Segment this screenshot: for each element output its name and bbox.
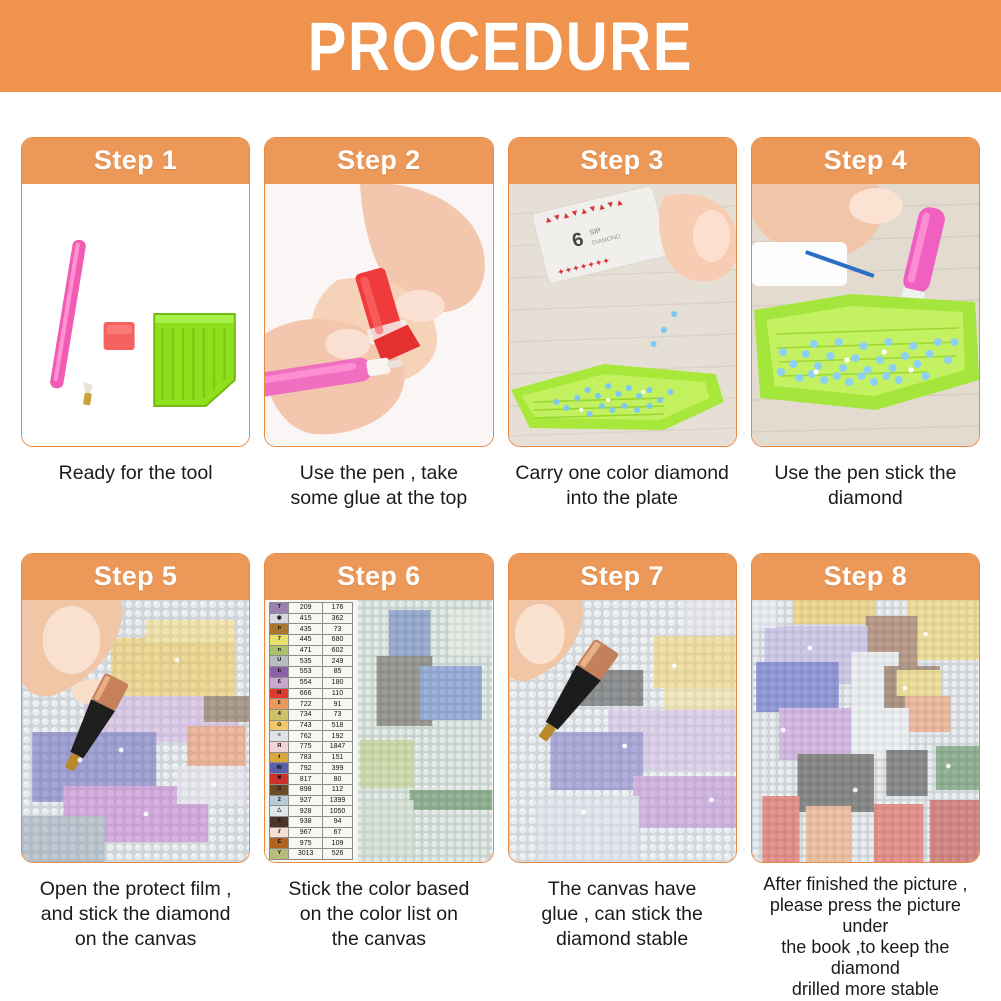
step-header-5: Step 5 xyxy=(21,553,250,600)
color-swatch: △ xyxy=(269,806,289,816)
color-swatch: ✖ xyxy=(269,774,289,784)
step-photo-7 xyxy=(509,600,736,862)
color-code: 975 xyxy=(289,838,323,848)
step-header-4: Step 4 xyxy=(751,137,980,184)
color-list-row: ≡762192 xyxy=(269,731,353,742)
color-code: 743 xyxy=(289,721,323,731)
color-count: 680 xyxy=(323,635,353,645)
color-count: 526 xyxy=(323,849,353,859)
color-list-row: 593894 xyxy=(269,817,353,828)
step-cell-1: Step 1 xyxy=(21,137,250,511)
step-header-label: Step 7 xyxy=(580,561,663,592)
color-swatch: N xyxy=(269,689,289,699)
color-list-table: T209176◉415362ɒ435737445680п471602U53524… xyxy=(265,600,356,862)
step-card-8[interactable]: Step 8 xyxy=(751,553,980,863)
color-count: 67 xyxy=(323,828,353,838)
page-title: PROCEDURE xyxy=(308,12,693,81)
color-swatch: Y xyxy=(269,849,289,859)
color-swatch: 4 xyxy=(269,710,289,720)
color-list-row: ⫽96767 xyxy=(269,828,353,839)
caption-line: Carry one color diamond xyxy=(510,461,735,486)
step-photo-3: ▲▼▲▼▲▼▲▼▲ ✦✦✦✦✦✦✦ 6 SIP DIAMOND xyxy=(509,184,736,446)
finished-painting-illustration xyxy=(752,600,979,862)
step-header-label: Step 6 xyxy=(337,561,420,592)
step-card-1[interactable]: Step 1 xyxy=(21,137,250,447)
step-caption-6: Stick the color based on the color list … xyxy=(264,877,493,952)
color-count: 1050 xyxy=(323,806,353,816)
page-banner: PROCEDURE xyxy=(0,0,1001,92)
step-cell-2: Step 2 xyxy=(264,137,493,511)
caption-line: drilled more stable xyxy=(753,979,978,1000)
color-code: 927 xyxy=(289,796,323,806)
stick-diamond-illustration xyxy=(22,600,249,862)
color-code: 435 xyxy=(289,624,323,634)
press-diamond-illustration xyxy=(509,600,736,862)
color-swatch: 6 xyxy=(269,678,289,688)
color-count: 362 xyxy=(323,614,353,624)
color-count: 180 xyxy=(323,678,353,688)
color-code: 762 xyxy=(289,731,323,741)
step-caption-4: Use the pen stick the diamond xyxy=(751,461,980,511)
caption-line: Use the pen stick the xyxy=(753,461,978,486)
step-cell-8: Step 8 xyxy=(751,553,980,1000)
color-swatch: ◉ xyxy=(269,614,289,624)
color-swatch: G xyxy=(269,785,289,795)
step-header-label: Step 8 xyxy=(824,561,907,592)
color-list-row: ɒ43573 xyxy=(269,624,353,635)
color-count: 73 xyxy=(323,624,353,634)
color-swatch: ‖ xyxy=(269,699,289,709)
step-cell-7: Step 7 xyxy=(508,553,737,1000)
color-code: 209 xyxy=(289,603,323,613)
step-photo-2 xyxy=(265,184,492,446)
caption-line: Stick the color based xyxy=(266,877,491,902)
caption-line: please press the picture under xyxy=(753,895,978,937)
color-count: 80 xyxy=(323,774,353,784)
color-code: 554 xyxy=(289,678,323,688)
color-list-row: ✖81780 xyxy=(269,774,353,785)
color-list-row: U535249 xyxy=(269,656,353,667)
step-header-2: Step 2 xyxy=(264,137,493,184)
color-code: 666 xyxy=(289,689,323,699)
pen-glue-illustration xyxy=(265,184,492,446)
color-code: 938 xyxy=(289,817,323,827)
step-header-6: Step 6 xyxy=(264,553,493,600)
color-count: 112 xyxy=(323,785,353,795)
color-list-row: T209176 xyxy=(269,602,353,614)
step-card-4[interactable]: Step 4 xyxy=(751,137,980,447)
color-swatch: 7 xyxy=(269,635,289,645)
color-count: 110 xyxy=(323,689,353,699)
step-card-3[interactable]: Step 3 ▲▼▲▼▲▼▲▼▲ xyxy=(508,137,737,447)
caption-line: on the color list on xyxy=(266,902,491,927)
color-swatch: ⫽ xyxy=(269,828,289,838)
step-photo-6: T209176◉415362ɒ435737445680п471602U53524… xyxy=(265,600,492,862)
color-swatch: п xyxy=(269,646,289,656)
color-count: 518 xyxy=(323,721,353,731)
color-count: 1847 xyxy=(323,742,353,752)
caption-line: Open the protect film , xyxy=(23,877,248,902)
color-swatch: W xyxy=(269,763,289,773)
color-code: 817 xyxy=(289,774,323,784)
caption-line: some glue at the top xyxy=(266,486,491,511)
color-code: 775 xyxy=(289,742,323,752)
color-swatch: ≡ xyxy=(269,731,289,741)
step-caption-8: After finished the picture , please pres… xyxy=(751,874,980,1000)
step-header-label: Step 4 xyxy=(824,145,907,176)
color-list-row: W792399 xyxy=(269,763,353,774)
step-cell-6: Step 6 xyxy=(264,553,493,1000)
step-header-label: Step 1 xyxy=(94,145,177,176)
color-code: 722 xyxy=(289,699,323,709)
color-code: 3013 xyxy=(289,849,323,859)
color-count: 91 xyxy=(323,699,353,709)
step-header-label: Step 3 xyxy=(580,145,663,176)
steps-row-1: Step 1 xyxy=(0,137,1001,511)
step-header-1: Step 1 xyxy=(21,137,250,184)
color-count: 73 xyxy=(323,710,353,720)
caption-line: Use the pen , take xyxy=(266,461,491,486)
color-list-row: 6554180 xyxy=(269,678,353,689)
color-count: 151 xyxy=(323,753,353,763)
color-code: 535 xyxy=(289,656,323,666)
step-cell-4: Step 4 xyxy=(751,137,980,511)
color-swatch: b xyxy=(269,667,289,677)
step-caption-5: Open the protect film , and stick the di… xyxy=(21,877,250,952)
caption-line: and stick the diamond xyxy=(23,902,248,927)
color-code: 792 xyxy=(289,763,323,773)
step-header-label: Step 2 xyxy=(337,145,420,176)
color-list-row: G898112 xyxy=(269,785,353,796)
color-swatch: Я xyxy=(269,742,289,752)
color-count: 399 xyxy=(323,763,353,773)
step-header-label: Step 5 xyxy=(94,561,177,592)
caption-line: into the plate xyxy=(510,486,735,511)
step-header-7: Step 7 xyxy=(508,553,737,600)
color-swatch: ⊙ xyxy=(269,721,289,731)
color-count: 1399 xyxy=(323,796,353,806)
color-list-row: 473473 xyxy=(269,710,353,721)
color-swatch: 2 xyxy=(269,796,289,806)
caption-line: the canvas xyxy=(266,927,491,952)
color-swatch: U xyxy=(269,656,289,666)
step-header-3: Step 3 xyxy=(508,137,737,184)
color-list-row: E975109 xyxy=(269,838,353,849)
step-card-5[interactable]: Step 5 xyxy=(21,553,250,863)
caption-line: The canvas have xyxy=(510,877,735,902)
steps-row-2: Step 5 xyxy=(0,553,1001,1000)
caption-line: diamond stable xyxy=(510,927,735,952)
color-code: 898 xyxy=(289,785,323,795)
step-card-7[interactable]: Step 7 xyxy=(508,553,737,863)
step-card-2[interactable]: Step 2 xyxy=(264,137,493,447)
caption-line: the book ,to keep the diamond xyxy=(753,937,978,979)
color-list-row: ◉415362 xyxy=(269,614,353,625)
color-list-row: Я7751847 xyxy=(269,742,353,753)
color-list-row: △9281050 xyxy=(269,806,353,817)
color-list-row: ŧ783151 xyxy=(269,753,353,764)
color-count: 109 xyxy=(323,838,353,848)
tool-kit-illustration xyxy=(22,184,249,446)
color-list-row: п471602 xyxy=(269,646,353,657)
color-list-row: 7445680 xyxy=(269,635,353,646)
step-cell-3: Step 3 ▲▼▲▼▲▼▲▼▲ xyxy=(508,137,737,511)
color-list-row: Y3013526 xyxy=(269,849,353,860)
color-code: 967 xyxy=(289,828,323,838)
step-caption-1: Ready for the tool xyxy=(21,461,250,486)
caption-line: diamond xyxy=(753,486,978,511)
color-swatch: T xyxy=(269,603,289,613)
caption-line: After finished the picture , xyxy=(753,874,978,895)
step-header-8: Step 8 xyxy=(751,553,980,600)
color-code: 553 xyxy=(289,667,323,677)
color-swatch: ɒ xyxy=(269,624,289,634)
color-code: 445 xyxy=(289,635,323,645)
step-card-6[interactable]: Step 6 xyxy=(264,553,493,863)
caption-line: on the canvas xyxy=(23,927,248,952)
color-code: 928 xyxy=(289,806,323,816)
color-list-row: 29271399 xyxy=(269,796,353,807)
step-caption-7: The canvas have glue , can stick the dia… xyxy=(508,877,737,952)
color-count: 192 xyxy=(323,731,353,741)
color-swatch: 5 xyxy=(269,817,289,827)
color-list-row: ⊙743518 xyxy=(269,721,353,732)
step-photo-5 xyxy=(22,600,249,862)
color-code: 471 xyxy=(289,646,323,656)
caption-line: glue , can stick the xyxy=(510,902,735,927)
step-caption-2: Use the pen , take some glue at the top xyxy=(264,461,493,511)
color-code: 734 xyxy=(289,710,323,720)
color-code: 415 xyxy=(289,614,323,624)
color-count: 602 xyxy=(323,646,353,656)
color-swatch: ŧ xyxy=(269,753,289,763)
color-swatch: E xyxy=(269,838,289,848)
step-caption-3: Carry one color diamond into the plate xyxy=(508,461,737,511)
pen-pickup-illustration xyxy=(752,184,979,446)
color-list-row: N666110 xyxy=(269,689,353,700)
color-list-row: ‖72291 xyxy=(269,699,353,710)
color-count: 176 xyxy=(323,603,353,613)
color-count: 85 xyxy=(323,667,353,677)
step-photo-8 xyxy=(752,600,979,862)
pour-diamonds-illustration: ▲▼▲▼▲▼▲▼▲ ✦✦✦✦✦✦✦ 6 SIP DIAMOND xyxy=(509,184,736,446)
step-cell-5: Step 5 xyxy=(21,553,250,1000)
color-list-row: b55385 xyxy=(269,667,353,678)
step-photo-4 xyxy=(752,184,979,446)
color-count: 249 xyxy=(323,656,353,666)
color-code: 783 xyxy=(289,753,323,763)
caption-line: Ready for the tool xyxy=(23,461,248,486)
step-photo-1 xyxy=(22,184,249,446)
color-count: 94 xyxy=(323,817,353,827)
